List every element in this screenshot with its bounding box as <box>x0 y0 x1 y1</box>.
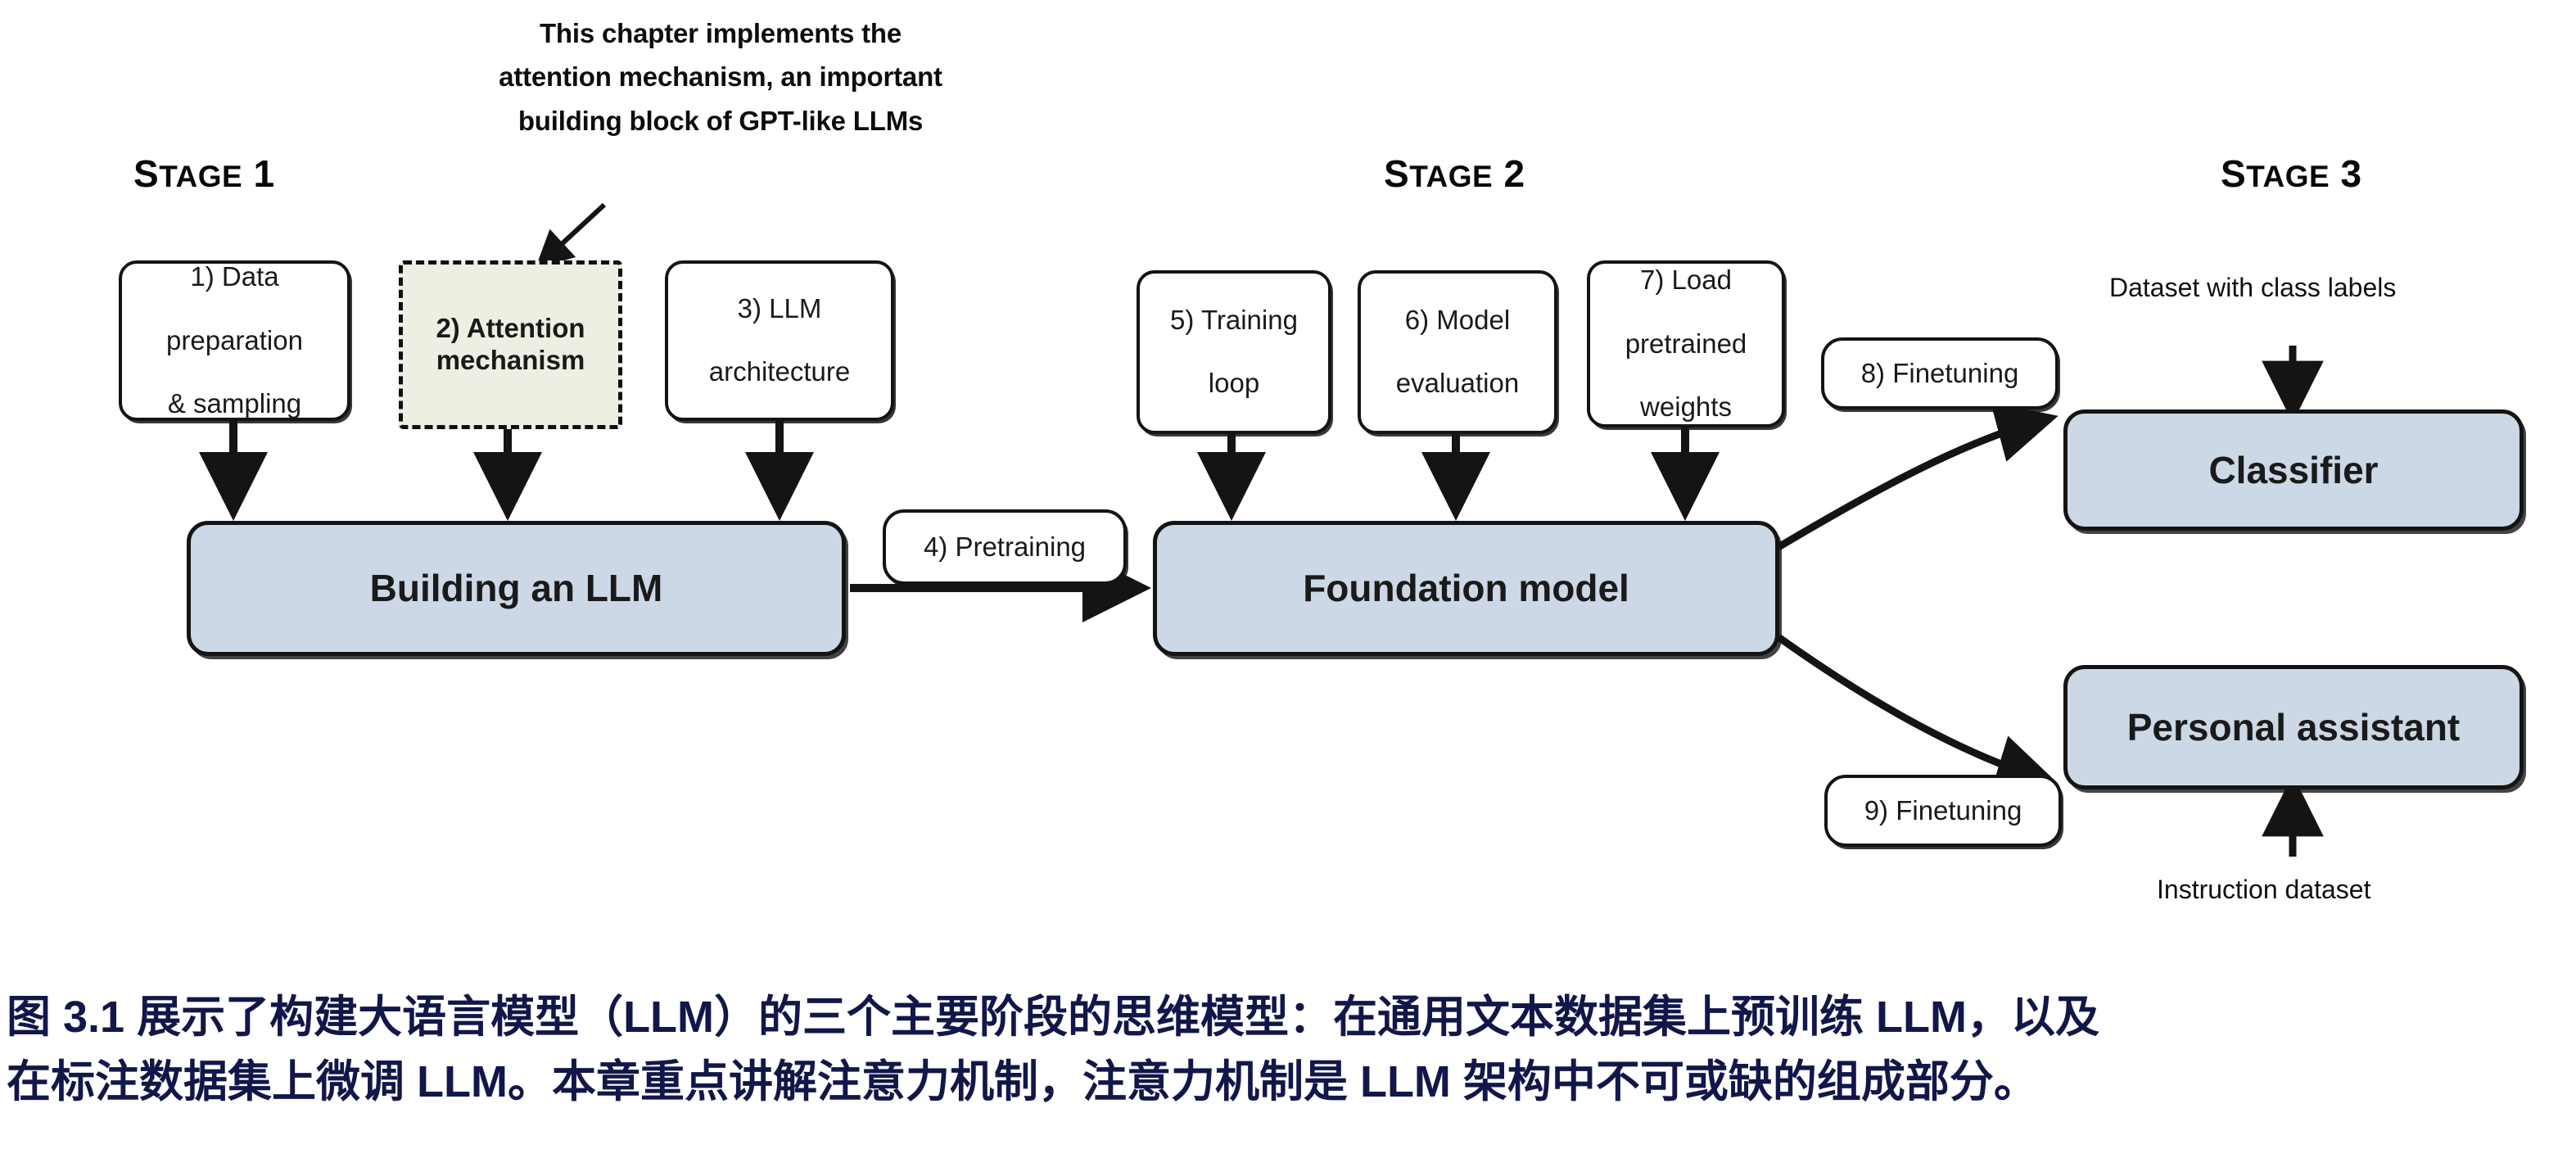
arrow-foundation-to-classifier <box>1778 419 2045 547</box>
arrow-foundation-to-assistant <box>1778 637 2045 780</box>
node-load-weights-label: 7) Load pretrained weights <box>1612 265 1760 424</box>
me-l2: evaluation <box>1390 368 1525 400</box>
stage-title-3: STAGE 3 <box>2221 152 2362 196</box>
la-l2: architecture <box>703 356 856 388</box>
node-building-an-llm[interactable]: Building an LLM <box>187 521 846 656</box>
diagram-canvas: This chapter implements the attention me… <box>0 0 2576 966</box>
stage-3-rest: TAGE <box>2246 160 2330 193</box>
la-l1: 3) LLM <box>703 293 856 325</box>
node-model-evaluation[interactable]: 6) Model evaluation <box>1358 270 1557 434</box>
annotation-line-2: attention mechanism, an important <box>409 55 1032 98</box>
node-llm-architecture-label: 3) LLM architecture <box>696 293 863 389</box>
at-l1: 2) Attention <box>436 313 585 343</box>
node-classifier[interactable]: Classifier <box>2063 409 2524 531</box>
caption-line-1: 图 3.1 展示了构建大语言模型（LLM）的三个主要阶段的思维模型：在通用文本数… <box>7 985 2569 1050</box>
label-finetuning-8-text: 8) Finetuning <box>1861 358 2019 390</box>
label-finetuning-9[interactable]: 9) Finetuning <box>1824 775 2062 847</box>
at-l2: mechanism <box>436 345 585 375</box>
node-model-evaluation-label: 6) Model evaluation <box>1383 305 1532 400</box>
label-pretraining-text: 4) Pretraining <box>924 532 1086 563</box>
tl-l1: 5) Training <box>1164 305 1304 337</box>
stage-2-rest: TAGE <box>1409 160 1493 193</box>
me-l1: 6) Model <box>1390 305 1525 337</box>
node-classifier-label: Classifier <box>2208 448 2378 492</box>
stage-2-number: 2 <box>1504 152 1525 195</box>
node-llm-architecture[interactable]: 3) LLM architecture <box>665 260 894 421</box>
tl-l2: loop <box>1164 368 1304 400</box>
node-training-loop[interactable]: 5) Training loop <box>1137 270 1331 434</box>
text-instruction-dataset: Instruction dataset <box>2157 875 2370 905</box>
node-data-preparation[interactable]: 1) Data preparation & sampling <box>119 260 350 421</box>
node-personal-assistant-label: Personal assistant <box>2127 705 2461 749</box>
node-attention-mechanism[interactable]: 2) Attention mechanism <box>399 260 622 429</box>
dp-l1: 1) Data <box>160 261 310 293</box>
node-personal-assistant[interactable]: Personal assistant <box>2063 665 2524 789</box>
lw-l2: pretrained <box>1619 328 1754 360</box>
dp-l2: preparation <box>160 325 310 357</box>
node-load-pretrained-weights[interactable]: 7) Load pretrained weights <box>1587 260 1785 427</box>
annotation-line-3: building block of GPT-like LLMs <box>409 99 1032 142</box>
text-dataset-with-class-labels: Dataset with class labels <box>2109 273 2396 303</box>
lw-l1: 7) Load <box>1619 265 1754 296</box>
stage-1-num <box>242 152 253 195</box>
stage-1-rest: TAGE <box>159 160 242 193</box>
dp-l3: & sampling <box>160 388 310 420</box>
node-foundation-model-label: Foundation model <box>1303 566 1629 610</box>
label-finetuning-8[interactable]: 8) Finetuning <box>1821 337 2059 409</box>
label-pretraining[interactable]: 4) Pretraining <box>883 509 1127 585</box>
figure-caption: 图 3.1 展示了构建大语言模型（LLM）的三个主要阶段的思维模型：在通用文本数… <box>7 985 2569 1115</box>
figure-3-1: This chapter implements the attention me… <box>0 0 2576 1158</box>
node-training-loop-label: 5) Training loop <box>1157 305 1311 400</box>
node-building-an-llm-label: Building an LLM <box>370 566 663 610</box>
stage-1-cap: S <box>133 152 159 195</box>
stage-3-number: 3 <box>2341 152 2362 195</box>
annotation-line-1: This chapter implements the <box>409 11 1032 55</box>
stage-3-cap: S <box>2221 152 2246 195</box>
node-foundation-model[interactable]: Foundation model <box>1153 521 1779 656</box>
label-finetuning-9-text: 9) Finetuning <box>1864 795 2022 827</box>
node-attention-label: 2) Attention mechanism <box>436 313 585 377</box>
node-data-preparation-label: 1) Data preparation & sampling <box>153 261 316 421</box>
chapter-annotation: This chapter implements the attention me… <box>409 11 1032 142</box>
lw-l3: weights <box>1619 391 1754 423</box>
stage-2-cap: S <box>1384 152 1409 195</box>
stage-title-2: STAGE 2 <box>1384 152 1525 196</box>
stage-title-1: STAGE 1 <box>133 152 275 196</box>
stage-1-number: 1 <box>254 152 275 195</box>
caption-line-2: 在标注数据集上微调 LLM。本章重点讲解注意力机制，注意力机制是 LLM 架构中… <box>7 1050 2569 1115</box>
arrow-annotation-to-attention <box>540 205 604 264</box>
